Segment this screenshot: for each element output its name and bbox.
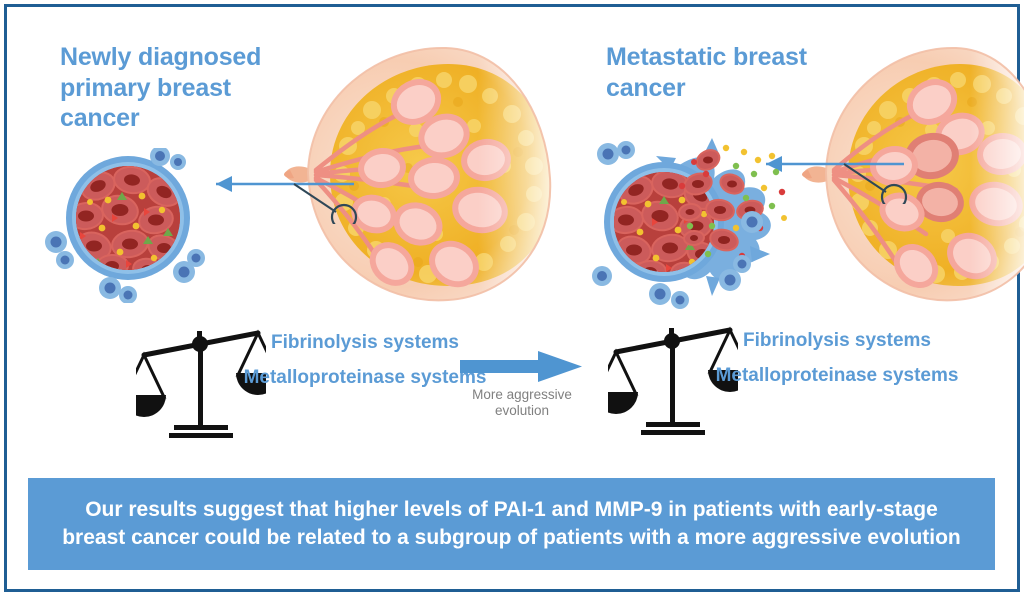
evolution-transition: More aggressive evolution xyxy=(458,350,586,419)
metalloproteinase-label-left: Metalloproteinase systems xyxy=(240,367,490,390)
right-arrow-icon xyxy=(458,350,586,384)
metastatic-tumor-illustration xyxy=(586,126,816,311)
systems-labels-left: Fibrinolysis systems Metalloproteinase s… xyxy=(240,332,490,390)
evolution-caption: More aggressive evolution xyxy=(458,387,586,419)
systems-labels-right: Fibrinolysis systems Metalloproteinase s… xyxy=(712,330,962,388)
primary-tumor-illustration xyxy=(36,148,246,303)
fibrinolysis-label-left: Fibrinolysis systems xyxy=(240,332,490,355)
infographic-canvas: Newly diagnosed primary breast cancer Me… xyxy=(0,0,1024,596)
fibrinolysis-label-right: Fibrinolysis systems xyxy=(712,330,962,353)
metalloproteinase-label-right: Metalloproteinase systems xyxy=(712,365,962,388)
conclusion-banner: Our results suggest that higher levels o… xyxy=(28,478,995,570)
conclusion-text: Our results suggest that higher levels o… xyxy=(28,496,995,551)
